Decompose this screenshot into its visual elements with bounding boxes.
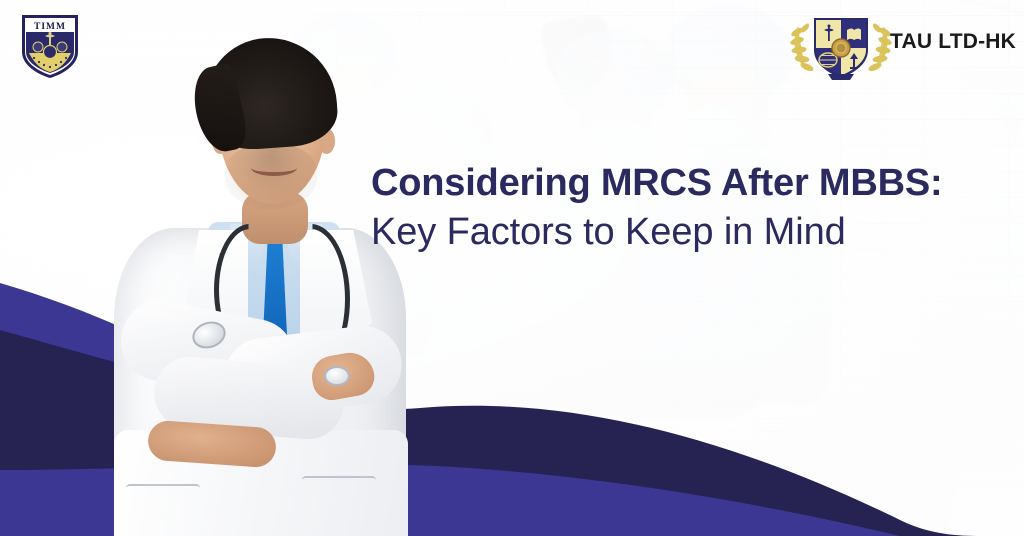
doctor-beard-shadow <box>225 144 317 210</box>
tau-logo-label: TAU LTD-HK <box>890 30 1016 54</box>
globe-icon <box>819 53 837 67</box>
coat-pocket-left <box>126 484 200 528</box>
laurel-wreath-left-icon <box>789 22 814 73</box>
headline-line-2: Key Factors to Keep in Mind <box>371 206 1011 258</box>
coat-pocket-right <box>302 476 376 520</box>
promotional-banner: TIMM <box>0 0 1024 536</box>
open-book-icon <box>847 29 861 41</box>
doctor-figure <box>96 32 416 536</box>
tau-logo[interactable] <box>788 8 894 82</box>
tau-ribbon <box>828 74 854 80</box>
tau-medallion-inner <box>836 43 846 53</box>
doctor-smile <box>251 160 297 176</box>
timm-logo-label: TIMM <box>34 22 66 32</box>
stethoscope-chestpiece <box>324 366 350 386</box>
headline-block: Considering MRCS After MBBS: Key Factors… <box>371 160 1011 258</box>
laurel-wreath-right-icon <box>867 22 892 73</box>
timm-logo[interactable]: TIMM <box>19 12 81 80</box>
headline-line-1: Considering MRCS After MBBS: <box>371 160 1011 206</box>
